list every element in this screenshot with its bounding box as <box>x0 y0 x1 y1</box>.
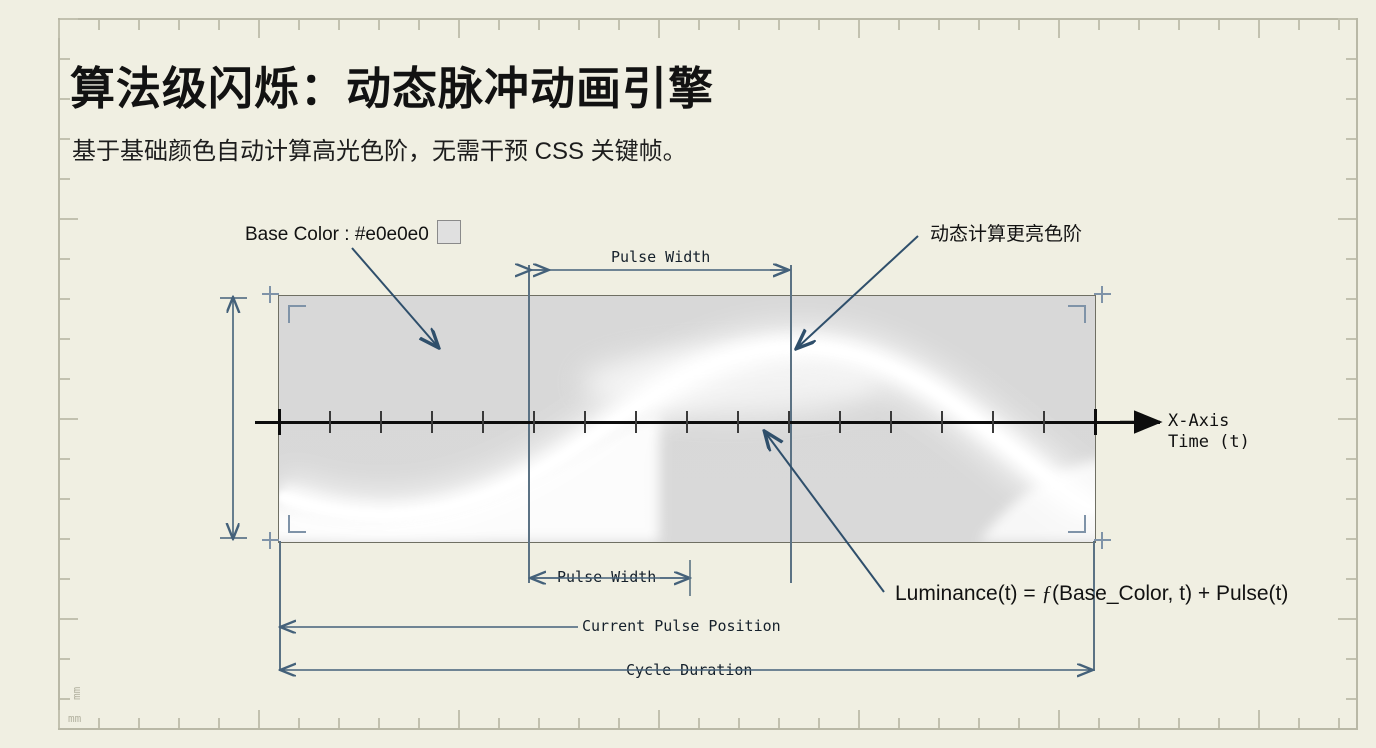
ruler-tick <box>218 20 220 30</box>
x-axis-tick <box>788 411 790 433</box>
ruler-tick <box>338 20 340 30</box>
ruler-tick <box>60 658 70 660</box>
ruler-tick <box>378 718 380 728</box>
dim-label-current-pulse-position: Current Pulse Position <box>576 617 787 635</box>
ruler-tick <box>1346 578 1356 580</box>
ruler-tick <box>1338 218 1356 220</box>
ruler-tick <box>60 138 70 140</box>
ruler-tick <box>1338 20 1340 30</box>
ruler-tick <box>60 98 70 100</box>
ruler-tick <box>1346 138 1356 140</box>
bright-step-annotation: 动态计算更亮色阶 <box>930 219 1082 246</box>
ruler-tick <box>98 718 100 728</box>
guide-line-cycle-start <box>279 541 281 671</box>
ruler-unit-horizontal: mm <box>68 712 81 725</box>
ruler-tick <box>1058 710 1060 728</box>
ruler-tick <box>898 718 900 728</box>
ruler-tick <box>1338 18 1356 20</box>
ruler-tick <box>618 718 620 728</box>
ruler-tick <box>1178 20 1180 30</box>
ruler-tick <box>538 718 540 728</box>
diagram-canvas: mm mm 算法级闪烁：动态脉冲动画引擎 基于基础颜色自动计算高光色阶，无需干预… <box>0 0 1376 748</box>
ruler-tick <box>698 20 700 30</box>
ruler-tick <box>898 20 900 30</box>
ruler-tick <box>658 20 660 38</box>
ruler-tick <box>60 498 70 500</box>
ruler-tick <box>1338 718 1340 728</box>
luminance-prefix: Luminance(t) = <box>895 582 1042 605</box>
luminance-function-symbol: ƒ <box>1042 581 1053 605</box>
ruler-tick <box>698 718 700 728</box>
ruler-tick <box>178 20 180 30</box>
ruler-tick <box>60 458 70 460</box>
ruler-tick <box>778 718 780 728</box>
ruler-tick <box>538 20 540 30</box>
ruler-tick <box>1138 718 1140 728</box>
luminance-suffix: (Base_Color, t) + Pulse(t) <box>1052 582 1288 605</box>
x-axis-unit: Time (t) <box>1168 432 1250 453</box>
x-axis-tick <box>584 411 586 433</box>
ruler-tick <box>58 20 60 38</box>
ruler-unit-vertical: mm <box>70 687 83 700</box>
x-axis-tick-major <box>1094 409 1097 435</box>
ruler-tick <box>60 698 70 700</box>
page-subtitle: 基于基础颜色自动计算高光色阶，无需干预 CSS 关键帧。 <box>72 131 687 166</box>
x-axis-tick <box>1043 411 1045 433</box>
guide-line-pulse-end <box>790 265 792 583</box>
x-axis-tick <box>635 411 637 433</box>
ruler-top-line <box>58 18 1358 20</box>
x-axis-tick <box>839 411 841 433</box>
base-color-annotation: Base Color : #e0e0e0 <box>245 220 461 246</box>
x-axis-tick <box>686 411 688 433</box>
corner-bracket-bottom-left <box>288 515 306 533</box>
ruler-tick <box>60 218 78 220</box>
ruler-tick <box>1018 718 1020 728</box>
ruler-tick <box>1258 20 1260 38</box>
ruler-tick <box>338 718 340 728</box>
ruler-tick <box>1346 298 1356 300</box>
ruler-tick <box>1138 20 1140 30</box>
ruler-tick <box>578 718 580 728</box>
ruler-tick <box>258 710 260 728</box>
ruler-tick <box>60 418 78 420</box>
ruler-tick <box>1218 20 1220 30</box>
ruler-tick <box>1298 718 1300 728</box>
ruler-tick <box>1098 20 1100 30</box>
x-axis-tick <box>329 411 331 433</box>
corner-bracket-top-left <box>288 305 306 323</box>
ruler-tick <box>418 718 420 728</box>
ruler-tick <box>1018 20 1020 30</box>
ruler-left-line <box>58 18 60 730</box>
ruler-tick <box>818 20 820 30</box>
ruler-tick <box>60 378 70 380</box>
ruler-tick <box>1346 98 1356 100</box>
x-axis-tick <box>992 411 994 433</box>
ruler-tick <box>618 20 620 30</box>
ruler-tick <box>1218 718 1220 728</box>
x-axis-tick <box>737 411 739 433</box>
ruler-tick <box>858 20 860 38</box>
dim-label-pulse-width-top: Pulse Width <box>605 248 716 266</box>
ruler-tick <box>418 20 420 30</box>
base-color-swatch <box>437 220 461 244</box>
ruler-tick <box>1058 20 1060 38</box>
ruler-tick <box>1346 258 1356 260</box>
ruler-tick <box>458 710 460 728</box>
ruler-tick <box>1338 618 1356 620</box>
ruler-tick <box>60 178 70 180</box>
ruler-tick <box>298 20 300 30</box>
ruler-tick <box>138 718 140 728</box>
ruler-tick <box>1338 418 1356 420</box>
ruler-tick <box>1346 698 1356 700</box>
dim-label-pulse-width-bottom: Pulse Width <box>551 568 662 586</box>
ruler-tick <box>738 20 740 30</box>
ruler-tick <box>138 20 140 30</box>
x-axis-tick <box>890 411 892 433</box>
dim-label-cycle-duration: Cycle Duration <box>620 661 758 679</box>
ruler-tick <box>378 20 380 30</box>
ruler-tick <box>738 718 740 728</box>
ruler-tick <box>298 718 300 728</box>
luminance-formula-annotation: Luminance(t) = ƒ(Base_Color, t) + Pulse(… <box>895 581 1288 606</box>
guide-line-cycle-end <box>1093 541 1095 671</box>
ruler-tick <box>1298 20 1300 30</box>
ruler-tick <box>60 618 78 620</box>
ruler-tick <box>178 718 180 728</box>
ruler-tick <box>218 718 220 728</box>
ruler-tick <box>1346 58 1356 60</box>
ruler-tick <box>498 718 500 728</box>
ruler-right-line <box>1356 18 1358 730</box>
x-axis-tick-major <box>278 409 281 435</box>
ruler-tick <box>578 20 580 30</box>
ruler-tick <box>818 718 820 728</box>
guide-line-pulse-start <box>528 265 530 583</box>
ruler-tick <box>458 20 460 38</box>
dim-amplitude-vertical <box>220 298 247 538</box>
ruler-tick <box>98 20 100 30</box>
ruler-tick <box>978 718 980 728</box>
ruler-tick <box>1346 338 1356 340</box>
ruler-tick <box>60 338 70 340</box>
ruler-tick <box>978 20 980 30</box>
ruler-tick <box>258 20 260 38</box>
ruler-tick <box>60 258 70 260</box>
ruler-tick <box>938 718 940 728</box>
ruler-tick <box>1346 538 1356 540</box>
x-axis-tick <box>482 411 484 433</box>
ruler-tick <box>1346 658 1356 660</box>
x-axis-tick <box>380 411 382 433</box>
ruler-tick <box>60 538 70 540</box>
ruler-tick <box>60 18 78 20</box>
ruler-tick <box>938 20 940 30</box>
page-title: 算法级闪烁：动态脉冲动画引擎 <box>70 52 714 117</box>
x-axis-tick <box>941 411 943 433</box>
ruler-tick <box>1346 458 1356 460</box>
ruler-tick <box>858 710 860 728</box>
ruler-tick <box>58 710 60 728</box>
ruler-tick <box>60 578 70 580</box>
ruler-tick <box>778 20 780 30</box>
ruler-tick <box>1258 710 1260 728</box>
ruler-tick <box>658 710 660 728</box>
base-color-text: Base Color : #e0e0e0 <box>245 224 429 245</box>
ruler-tick <box>1346 498 1356 500</box>
x-axis-tick <box>431 411 433 433</box>
x-axis-tick <box>533 411 535 433</box>
ruler-bottom-line <box>58 728 1358 730</box>
ruler-tick <box>1178 718 1180 728</box>
ruler-tick <box>1098 718 1100 728</box>
ruler-tick <box>60 298 70 300</box>
x-axis-line <box>255 421 1160 424</box>
x-axis-label: X-Axis Time (t) <box>1168 411 1250 453</box>
x-axis-name: X-Axis <box>1168 411 1250 432</box>
ruler-tick <box>498 20 500 30</box>
corner-bracket-bottom-right <box>1068 515 1086 533</box>
ruler-tick <box>60 58 70 60</box>
corner-bracket-top-right <box>1068 305 1086 323</box>
ruler-tick <box>1346 178 1356 180</box>
ruler-tick <box>1346 378 1356 380</box>
